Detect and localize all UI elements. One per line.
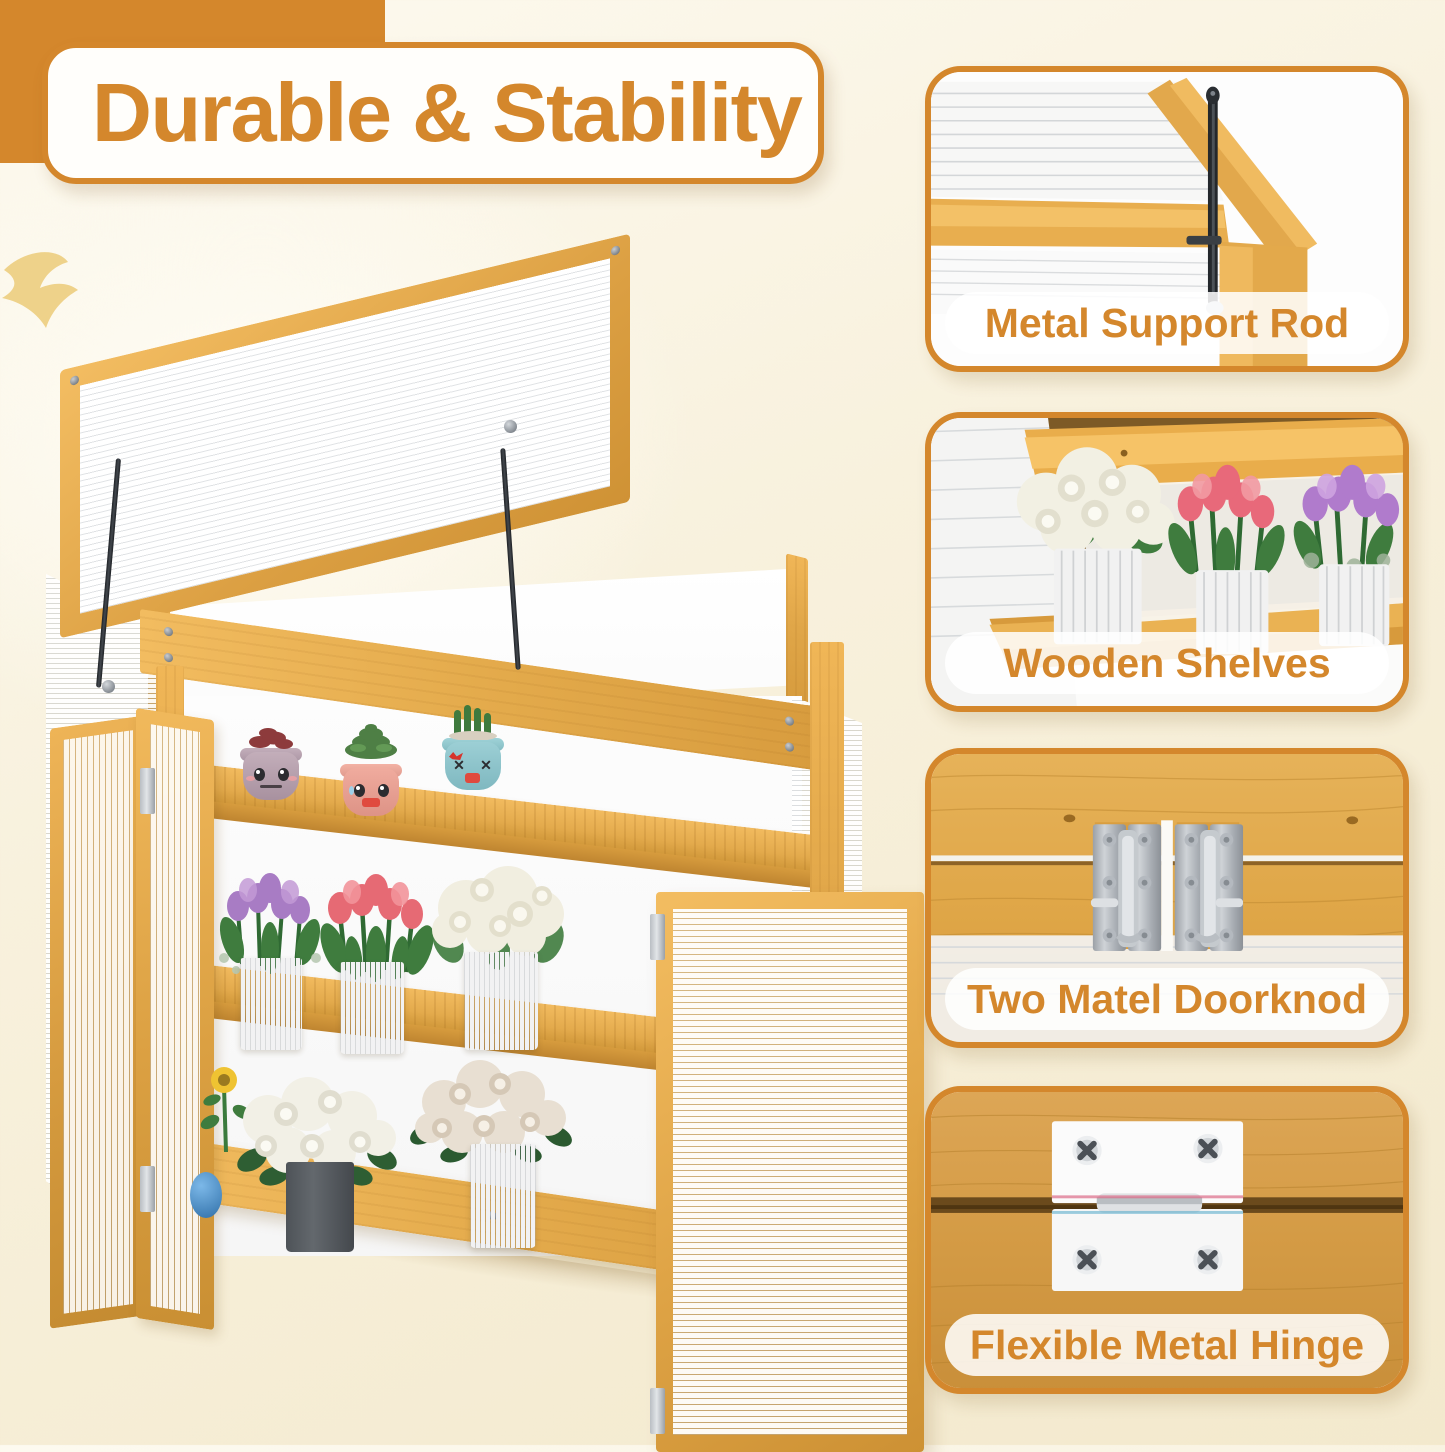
pot-mouth-icon <box>465 773 480 783</box>
top-rim-right <box>786 553 808 718</box>
pot-eye-icon <box>254 768 265 781</box>
greenhouse-cabinet: ✕ ✕ <box>44 546 904 1316</box>
support-rod-pin-icon <box>504 420 517 433</box>
feature-panel-two-metal-doorknob[interactable]: Two Matel Doorknod <box>925 748 1409 1048</box>
panel-label: Two Matel Doorknod <box>945 968 1389 1030</box>
list-item <box>340 758 402 816</box>
pot-cheek-icon <box>288 776 297 781</box>
dark-gray-pot <box>286 1162 354 1252</box>
screw-icon <box>785 742 794 752</box>
page-title: Durable & Stability <box>48 65 801 161</box>
screw-icon <box>164 626 173 636</box>
blue-decor-ball <box>190 1172 222 1218</box>
door-hinge-icon <box>140 1166 155 1212</box>
door-hinge-icon <box>140 768 155 814</box>
panel-label: Flexible Metal Hinge <box>945 1314 1389 1376</box>
pot-eye-icon: ✕ <box>480 759 492 771</box>
feature-panel-metal-support-rod[interactable]: Metal Support Rod <box>925 66 1409 372</box>
panel-label: Metal Support Rod <box>945 292 1389 354</box>
pot-eye-icon: ✕ <box>453 759 465 771</box>
list-item <box>240 742 302 800</box>
ribbed-white-vase <box>240 958 302 1050</box>
pot-eye-icon <box>354 784 365 797</box>
panel-label: Wooden Shelves <box>945 632 1389 694</box>
pot-tear-icon <box>349 786 354 795</box>
list-item: ✕ ✕ <box>442 732 504 790</box>
pot-cheek-icon <box>246 776 255 781</box>
support-rod-pin-icon <box>102 680 115 693</box>
ribbed-white-vase <box>340 962 404 1054</box>
page-title-banner: Durable & Stability <box>42 42 824 184</box>
screw-icon <box>785 716 794 726</box>
left-door-far-face[interactable] <box>50 715 146 1328</box>
ribbed-white-vase <box>464 952 538 1050</box>
screw-icon <box>164 652 173 662</box>
succulent-plant <box>446 702 500 740</box>
feature-panel-wooden-shelves[interactable]: Wooden Shelves <box>925 412 1409 712</box>
right-door-panel[interactable] <box>656 892 924 1452</box>
door-hinge-icon <box>650 914 665 960</box>
door-hinge-icon <box>650 1388 665 1434</box>
ribbed-white-vase <box>470 1144 536 1248</box>
pot-mouth-icon <box>260 785 282 788</box>
succulent-plant <box>248 724 294 754</box>
product-image-greenhouse: ✕ ✕ <box>44 296 904 1316</box>
succulent-plant <box>342 724 400 768</box>
feature-panel-flexible-metal-hinge[interactable]: Flexible Metal Hinge <box>925 1086 1409 1394</box>
pot-mouth-icon <box>362 798 380 807</box>
pot-eye-icon <box>378 784 389 797</box>
